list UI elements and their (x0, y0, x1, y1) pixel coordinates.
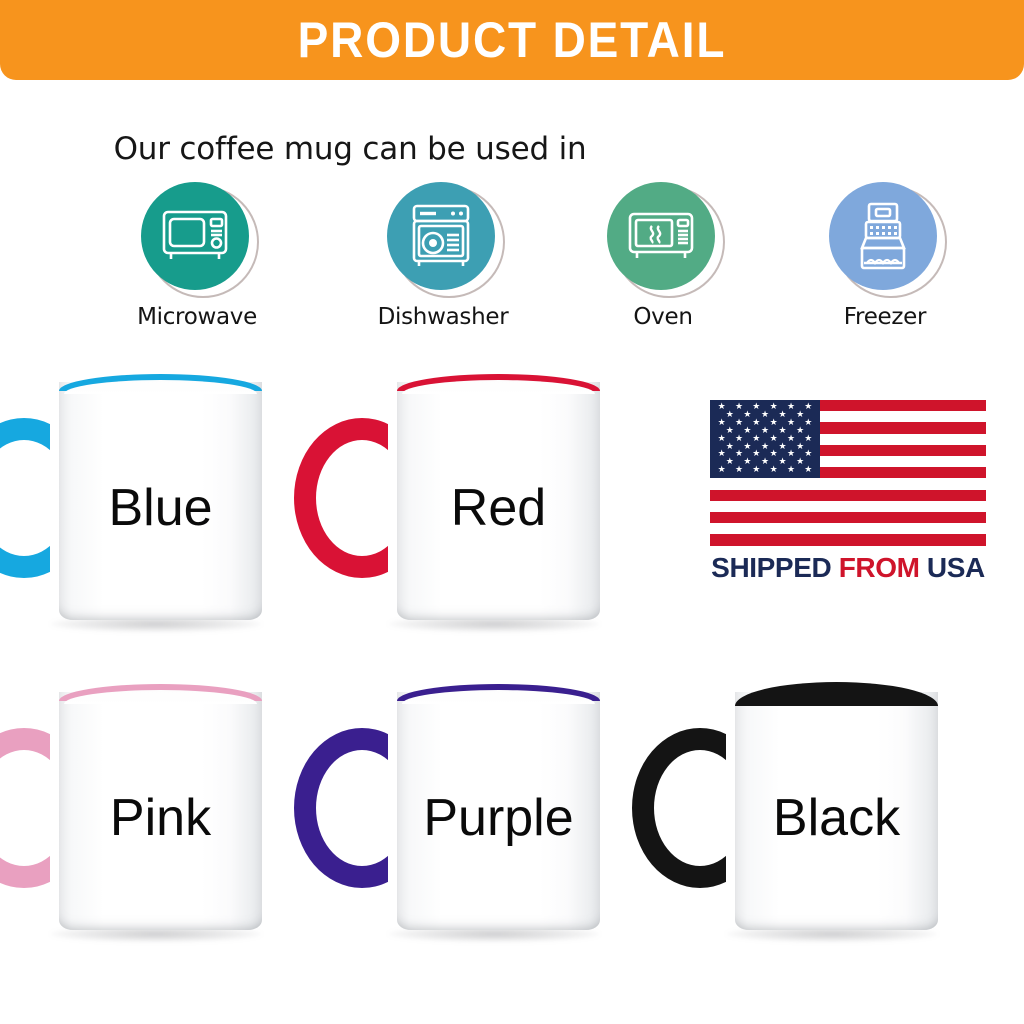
usa-text-shipped: SHIPPED (711, 552, 831, 583)
feature-microwave: Microwave (117, 182, 277, 330)
feature-label: Microwave (117, 304, 277, 330)
feature-dishwasher: Dishwasher (363, 182, 523, 330)
dishwasher-icon (411, 203, 471, 269)
mug-color-label: Pink (59, 792, 262, 844)
usa-text-from: FROM (839, 552, 920, 583)
mug-color-label: Purple (397, 792, 600, 844)
mug-blue: Blue (0, 366, 270, 638)
usa-text-usa: USA (927, 552, 985, 583)
flag-canton: ★★★★★★ ★★★★★ ★★★★★★ ★★★★★ ★★★★★★ ★★★★★ ★… (710, 400, 820, 478)
oven-icon (627, 210, 695, 262)
feature-freezer: Freezer (805, 182, 965, 330)
mug-color-label: Black (735, 792, 938, 844)
feature-oven: Oven (583, 182, 743, 330)
microwave-icon (161, 208, 229, 264)
usage-subtitle: Our coffee mug can be used in (0, 131, 700, 167)
mug-purple: Purple (278, 676, 608, 948)
mug-black: Black (616, 676, 946, 948)
mug-color-label: Blue (59, 482, 262, 534)
microwave-circle (141, 182, 249, 290)
freezer-circle-wrap (829, 182, 941, 294)
feature-label: Freezer (805, 304, 965, 330)
microwave-circle-wrap (141, 182, 253, 294)
feature-label: Dishwasher (363, 304, 523, 330)
mug-rim (735, 682, 938, 706)
shipped-from-usa-badge: ★★★★★★ ★★★★★ ★★★★★★ ★★★★★ ★★★★★★ ★★★★★ ★… (708, 400, 988, 584)
usa-flag-icon: ★★★★★★ ★★★★★ ★★★★★★ ★★★★★ ★★★★★★ ★★★★★ ★… (710, 400, 986, 546)
mug-color-label: Red (397, 482, 600, 534)
dishwasher-circle-wrap (387, 182, 499, 294)
oven-circle-wrap (607, 182, 719, 294)
oven-circle (607, 182, 715, 290)
feature-label: Oven (583, 304, 743, 330)
mug-pink: Pink (0, 676, 270, 948)
page-title: PRODUCT DETAIL (298, 15, 727, 65)
freezer-circle (829, 182, 937, 290)
mug-red: Red (278, 366, 608, 638)
dishwasher-circle (387, 182, 495, 290)
shipped-from-usa-text: SHIPPED FROM USA (708, 552, 988, 584)
header-banner: PRODUCT DETAIL (0, 0, 1024, 80)
freezer-icon (856, 201, 910, 271)
